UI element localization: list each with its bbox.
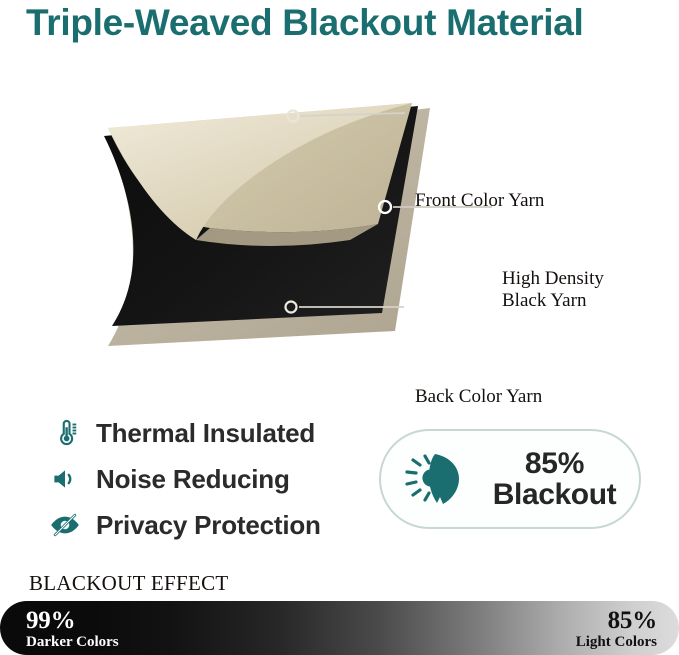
speaker-sound-icon bbox=[48, 462, 82, 496]
label-back-color-yarn: Back Color Yarn bbox=[415, 386, 542, 408]
label-high-density-black-yarn: High Density Black Yarn bbox=[502, 268, 604, 313]
label-front-color-yarn: Front Color Yarn bbox=[415, 190, 544, 212]
sun-behind-curtain-icon bbox=[404, 450, 466, 508]
eye-slash-icon bbox=[48, 508, 82, 542]
blackout-percentage-badge: 85% Blackout bbox=[379, 429, 641, 529]
blackout-badge-percent: 85% bbox=[484, 448, 625, 479]
blackout-badge-word: Blackout bbox=[484, 479, 625, 511]
fabric-layers-illustration bbox=[0, 88, 679, 358]
feature-row-privacy-protection: Privacy Protection bbox=[48, 502, 378, 548]
fabric-layers-diagram: Front Color Yarn High Density Black Yarn… bbox=[0, 88, 679, 358]
light-colors-caption: Light Colors bbox=[576, 634, 657, 652]
feature-label-privacy-protection: Privacy Protection bbox=[96, 510, 321, 541]
feature-label-noise-reducing: Noise Reducing bbox=[96, 464, 290, 495]
feature-list: Thermal Insulated Noise Reducing Privacy… bbox=[48, 410, 378, 548]
label-high-density-line-2: Black Yarn bbox=[502, 290, 604, 312]
feature-row-thermal-insulated: Thermal Insulated bbox=[48, 410, 378, 456]
feature-label-thermal-insulated: Thermal Insulated bbox=[96, 418, 315, 449]
blackout-effect-heading: BLACKOUT EFFECT bbox=[29, 571, 229, 596]
darker-colors-percent: 99% bbox=[26, 608, 119, 634]
page-title: Triple-Weaved Blackout Material bbox=[26, 2, 656, 44]
feature-row-noise-reducing: Noise Reducing bbox=[48, 456, 378, 502]
thermometer-icon bbox=[48, 416, 82, 450]
blackout-effect-gradient-bar: 99% Darker Colors 85% Light Colors bbox=[0, 601, 679, 655]
label-high-density-line-1: High Density bbox=[502, 268, 604, 290]
darker-colors-caption: Darker Colors bbox=[26, 634, 119, 652]
blackout-effect-darker-colors: 99% Darker Colors bbox=[26, 608, 119, 651]
blackout-effect-light-colors: 85% Light Colors bbox=[576, 608, 657, 651]
blackout-badge-text: 85% Blackout bbox=[484, 448, 639, 511]
light-colors-percent: 85% bbox=[576, 608, 657, 634]
